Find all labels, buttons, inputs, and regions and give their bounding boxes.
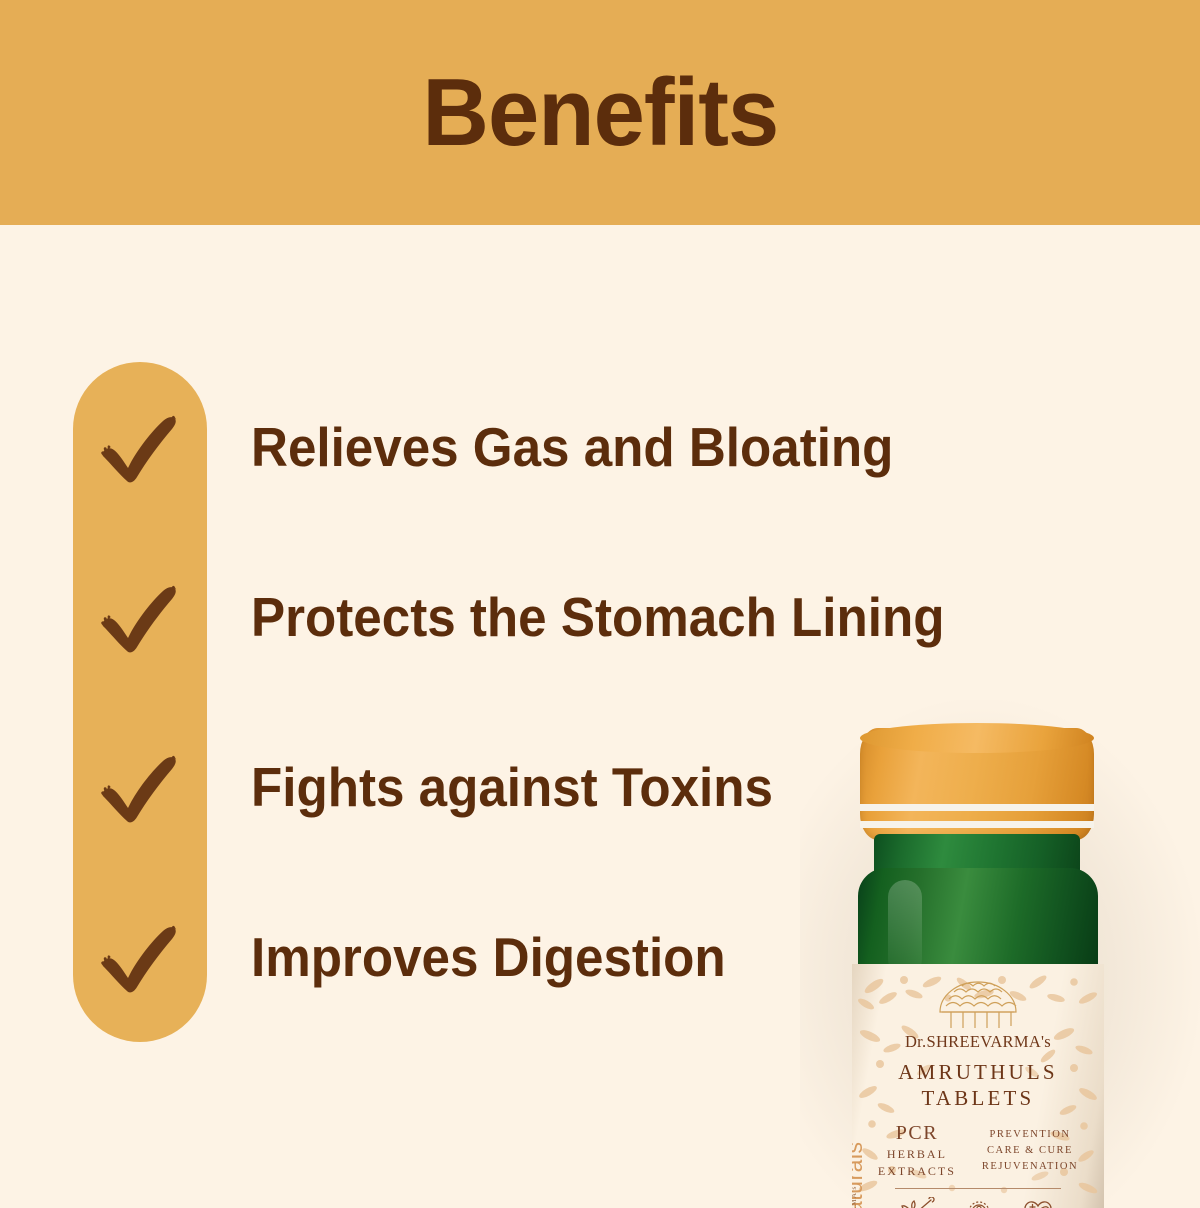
brush-check-icon [73,532,207,702]
side-brand-subtext: RMA's [852,1186,858,1208]
bottle-cap-stripe [860,821,1094,828]
brush-check-icon [73,702,207,872]
list-item: Relieves Gas and Bloating [73,362,942,532]
list-item: Fights against Toxins [73,702,812,872]
product-name: AMRUTHULS TABLETS [852,1060,1104,1111]
benefit-label: Relieves Gas and Bloating [251,420,893,475]
list-item: Protects the Stomach Lining [73,532,997,702]
product-bottle: Dr.SHREEVARMA's AMRUTHULS TABLETS PCR HE… [838,728,1138,1208]
brush-check-icon [73,872,207,1042]
header-band: Benefits [0,0,1200,225]
brush-check-icon-glyph [97,748,183,826]
extract-info: PCR HERBAL EXTRACTS [878,1122,956,1179]
extract-line2: EXTRACTS [878,1163,956,1179]
label-detail-columns: PCR HERBAL EXTRACTS PREVENTION CARE & CU… [852,1122,1104,1179]
claim-line3: REJUVENATION [982,1159,1078,1175]
list-item: Improves Digestion [73,872,761,1042]
claim-line2: CARE & CURE [982,1143,1078,1159]
person-wellness-icon [964,1197,994,1208]
claim-info: PREVENTION CARE & CURE REJUVENATION [982,1122,1078,1179]
brand-name: Dr.SHREEVARMA's [852,1032,1104,1052]
brush-check-icon-glyph [97,918,183,996]
bottle-cap-top [860,723,1094,753]
label-icon-row [852,1197,1104,1208]
benefit-label: Improves Digestion [251,930,726,985]
bottle-cap-stripe [860,804,1094,811]
gold-dome-emblem [932,976,1024,1030]
benefit-label: Fights against Toxins [251,760,773,815]
bottle-label: Dr.SHREEVARMA's AMRUTHULS TABLETS PCR HE… [852,964,1104,1208]
extract-title: PCR [878,1122,956,1145]
brush-check-icon-glyph [97,408,183,486]
product-name-line2: TABLETS [852,1086,1104,1112]
extract-line1: HERBAL [878,1146,956,1162]
brush-check-icon [73,362,207,532]
benefit-label: Protects the Stomach Lining [251,590,944,645]
page-title: Benefits [422,65,778,161]
claim-line1: PREVENTION [982,1127,1078,1143]
mortar-pestle-icon [900,1197,938,1208]
brush-check-icon-glyph [97,578,183,656]
label-divider [895,1188,1061,1189]
heart-leaf-icon [1020,1197,1056,1208]
product-name-line1: AMRUTHULS [852,1060,1104,1086]
